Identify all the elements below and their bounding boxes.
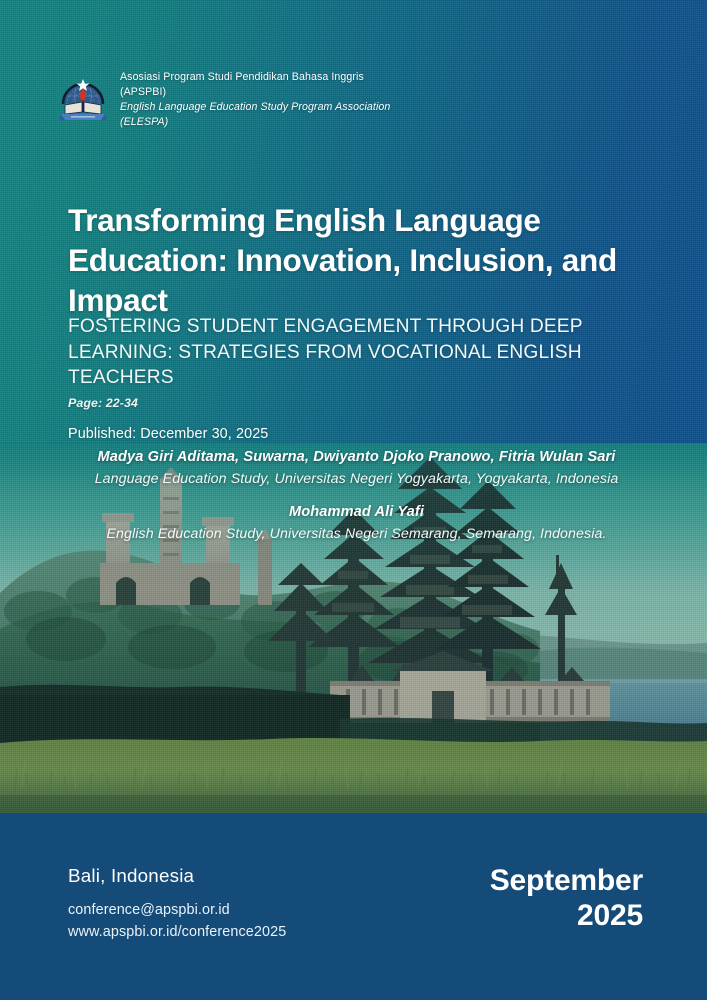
page-title: Transforming English Language Education:…: [68, 200, 653, 320]
organization-header: Asosiasi Program Studi Pendidikan Bahasa…: [57, 66, 390, 130]
author-group: Mohammad Ali Yafi English Education Stud…: [68, 503, 645, 544]
apspbi-emblem-icon: [57, 66, 109, 120]
org-name-english: English Language Education Study Program…: [120, 100, 390, 115]
org-acronym-english: (ELESPA): [120, 115, 390, 130]
organization-names: Asosiasi Program Studi Pendidikan Bahasa…: [120, 66, 390, 130]
author-group: Madya Giri Aditama, Suwarna, Dwiyanto Dj…: [68, 448, 645, 489]
conference-month: September: [490, 863, 643, 898]
org-acronym-indonesian: (APSPBI): [120, 85, 390, 100]
footer-contact-block: Bali, Indonesia conference@apspbi.or.id …: [68, 865, 286, 943]
venue-label: Bali, Indonesia: [68, 865, 286, 887]
apspbi-emblem-artwork: [57, 66, 109, 120]
contact-website[interactable]: www.apspbi.or.id/conference2025: [68, 922, 286, 944]
author-affiliation: Language Education Study, Universitas Ne…: [68, 470, 645, 489]
conference-year: 2025: [490, 898, 643, 933]
conference-poster: Asosiasi Program Studi Pendidikan Bahasa…: [0, 0, 707, 1000]
author-affiliation: English Education Study, Universitas Neg…: [68, 525, 645, 544]
conference-date-block: September 2025: [490, 863, 643, 933]
org-name-indonesian: Asosiasi Program Studi Pendidikan Bahasa…: [120, 70, 390, 85]
author-names: Madya Giri Aditama, Suwarna, Dwiyanto Dj…: [68, 448, 645, 468]
published-date-label: Published: December 30, 2025: [68, 426, 268, 442]
article-title: FOSTERING STUDENT ENGAGEMENT THROUGH DEE…: [68, 314, 643, 391]
contact-email[interactable]: conference@apspbi.or.id: [68, 900, 286, 922]
author-names: Mohammad Ali Yafi: [68, 503, 645, 523]
page-range-label: Page: 22-34: [68, 396, 138, 410]
authors-section: Madya Giri Aditama, Suwarna, Dwiyanto Dj…: [68, 448, 645, 557]
